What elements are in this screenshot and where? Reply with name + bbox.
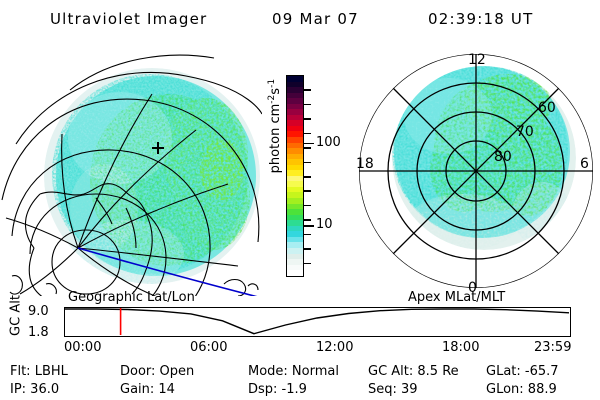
orbit-altitude-panel[interactable]: Geographic Lat/Lon Apex MLat/MLT GC Alt … [0,292,600,360]
colorbar-minor-tick-3 [304,118,311,120]
colorbar-minor-tick-9 [304,205,311,207]
status-field-seq: Seq: 39 [368,382,418,397]
colorbar-minor-tick-13 [304,263,311,265]
colorbar-minor-tick-1 [304,89,311,91]
status-field-glon: GLon: 88.9 [486,382,557,397]
orbit-xtick-0: 00:00 [64,340,101,355]
colorbar-band-35 [287,270,303,276]
colorbar-major-tick-1 [304,225,314,227]
status-field-dsp: Dsp: -1.9 [248,382,307,397]
status-row-2: IP: 36.0Gain: 14Dsp: -1.9Seq: 39GLon: 88… [0,382,600,399]
orbit-plot-box[interactable] [64,307,571,337]
colorbar-minor-tick-6 [304,162,311,164]
mlt-label-12: 12 [468,52,486,68]
colorbar-tick-label-10: 10 [316,218,333,231]
colorbar-minor-tick-12 [304,248,311,250]
colorbar: photon cm-2s-1 10010 [262,60,357,295]
orbit-xtick-3: 18:00 [442,340,479,355]
orbit-y-axis-label: GC Alt [9,286,24,346]
status-field-mode: Mode: Normal [248,364,339,379]
colorbar-unit-base: photon cm [268,104,283,174]
colorbar-minor-tick-10 [304,219,311,221]
page-title: Ultraviolet Imager [50,10,207,28]
mlat-label-70: 70 [516,124,534,140]
orbit-ytick-high: 9.0 [28,304,49,319]
colorbar-minor-tick-5 [304,147,311,149]
colorbar-tick-label-100: 100 [316,136,341,149]
mlt-aurora-region [359,54,593,288]
status-field-door: Door: Open [120,364,194,379]
mlt-label-18: 18 [356,156,374,172]
observation-time: 02:39:18 UT [428,10,533,28]
geographic-plot-svg [0,48,262,296]
orbit-title-left: Geographic Lat/Lon [68,290,195,305]
aurora-image-region [2,55,262,296]
mlat-label-60: 60 [538,100,556,116]
orbit-xtick-2: 12:00 [316,340,353,355]
colorbar-axis-label: photon cm-2s-1 [267,61,283,191]
orbit-curve-svg [65,308,569,335]
observation-date: 09 Mar 07 [272,10,359,28]
orbit-altitude-curve [65,309,569,334]
header-bar: Ultraviolet Imager 09 Mar 07 02:39:18 UT [0,6,600,34]
colorbar-unit-exp2: -1 [267,79,277,88]
colorbar-major-tick-0 [304,143,314,145]
status-field-ip: IP: 36.0 [10,382,59,397]
colorbar-minor-tick-7 [304,176,311,178]
orbit-xtick-1: 06:00 [190,340,227,355]
mlt-spokes [359,54,593,288]
colorbar-minor-tick-11 [304,234,311,236]
orbit-ytick-low: 1.8 [28,325,49,340]
colorbar-gradient-box [286,75,304,277]
orbit-xtick-4: 23:59 [534,340,571,355]
colorbar-unit-exp1: -2 [267,95,277,104]
status-block: Flt: LBHLDoor: OpenMode: NormalGC Alt: 8… [0,364,600,400]
mlt-label-6: 6 [580,156,589,172]
apex-mlat-mlt-plot[interactable]: 12 0 18 6 60 70 80 [352,46,600,296]
geographic-plot[interactable] [0,48,262,296]
status-row-1: Flt: LBHLDoor: OpenMode: NormalGC Alt: 8… [0,364,600,381]
status-field-glat: GLat: -65.7 [486,364,559,379]
mlt-dial-svg: 12 0 18 6 60 70 80 [352,46,600,296]
status-field-gain: Gain: 14 [120,382,175,397]
colorbar-minor-tick-4 [304,133,311,135]
colorbar-minor-tick-8 [304,190,311,192]
colorbar-unit-mid: s [268,88,283,95]
colorbar-minor-tick-2 [304,104,311,106]
status-field-flt: Flt: LBHL [10,364,68,379]
colorbar-gradient [287,76,303,276]
mlat-label-80: 80 [494,149,512,165]
orbit-title-right: Apex MLat/MLT [408,290,505,305]
status-field-gc-alt: GC Alt: 8.5 Re [368,364,459,379]
